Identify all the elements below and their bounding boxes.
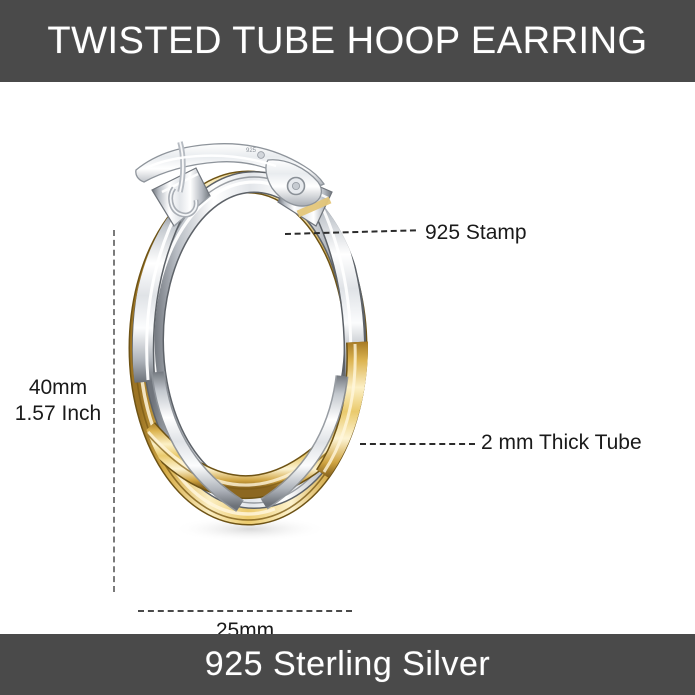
product-image-stage: 925 925 Stamp 2 mm Thick Tube 40mm 1.57 … bbox=[0, 82, 695, 634]
dimension-line-height bbox=[113, 230, 115, 592]
dimension-line-width bbox=[138, 610, 352, 612]
svg-text:925: 925 bbox=[246, 148, 257, 154]
dimension-height-inch: 1.57 Inch bbox=[6, 401, 110, 427]
annotation-925-stamp: 925 Stamp bbox=[425, 220, 527, 246]
dimension-height-mm: 40mm bbox=[6, 375, 110, 401]
material-caption: 925 Sterling Silver bbox=[205, 645, 490, 684]
footer-banner: 925 Sterling Silver bbox=[0, 634, 695, 695]
annotation-thick-tube: 2 mm Thick Tube bbox=[481, 430, 642, 456]
page-title: TWISTED TUBE HOOP EARRING bbox=[47, 20, 647, 63]
dimension-label-height: 40mm 1.57 Inch bbox=[6, 375, 110, 427]
earring-product-illustration: 925 bbox=[118, 130, 383, 540]
leader-line-thick-tube bbox=[360, 443, 475, 445]
header-banner: TWISTED TUBE HOOP EARRING bbox=[0, 0, 695, 82]
